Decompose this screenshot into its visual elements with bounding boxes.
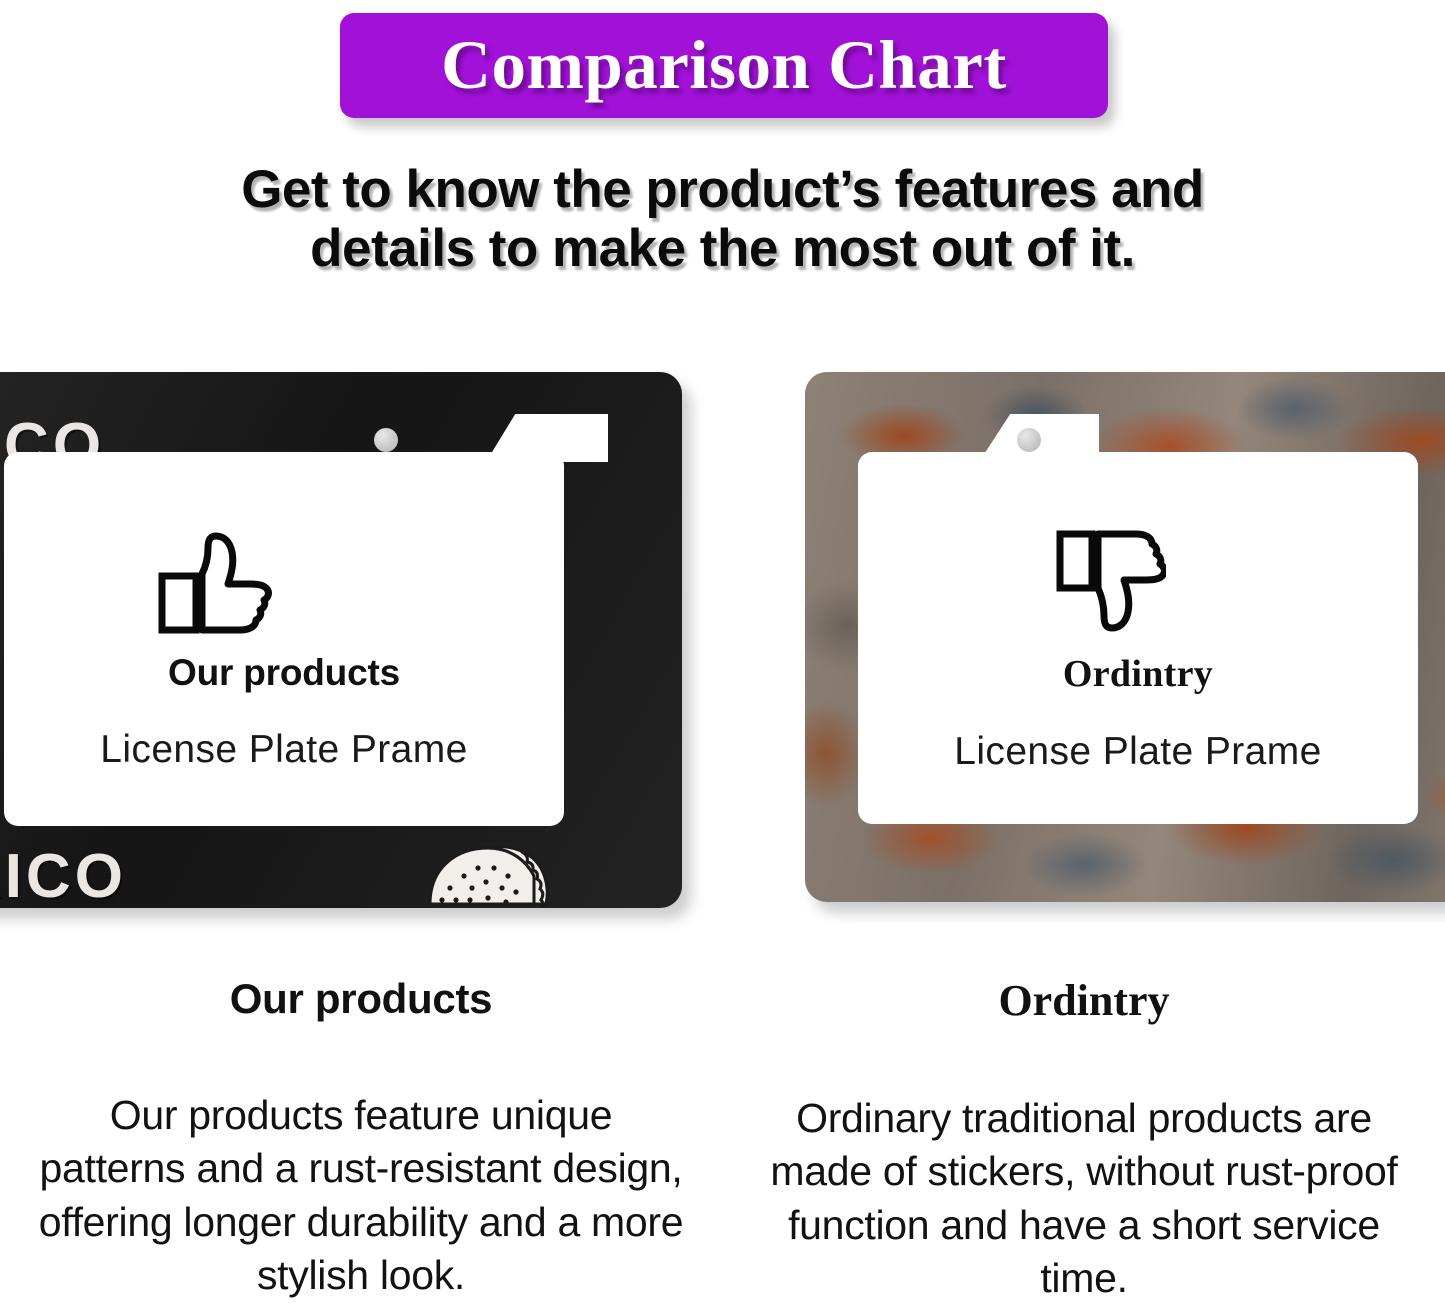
subtitle-line-2: details to make the most out of it. xyxy=(0,219,1445,278)
card-brand-right: Ordintry xyxy=(858,652,1418,696)
comparison-descriptions: Our products Our products feature unique… xyxy=(0,975,1445,1314)
card-brand-left: Our products xyxy=(4,652,564,694)
our-product-license-plate-frame: TACO EXICO xyxy=(0,372,682,908)
screw-hole xyxy=(374,428,398,452)
ordinary-license-plate-frame: Ordintry License Plate Prame xyxy=(805,372,1445,902)
description-column-ours: Our products Our products feature unique… xyxy=(0,975,722,1302)
card-subtitle-left: License Plate Prame xyxy=(4,728,564,772)
page-subtitle: Get to know the product’s features and d… xyxy=(0,160,1445,279)
page-title: Comparison Chart xyxy=(441,31,1007,100)
plate-window-right: Ordintry License Plate Prame xyxy=(858,452,1418,824)
column-title-ours: Our products xyxy=(0,975,722,1023)
comparison-chart-banner: Comparison Chart xyxy=(340,13,1108,118)
description-column-ordinary: Ordintry Ordinary traditional products a… xyxy=(723,975,1445,1305)
column-title-ordinary: Ordintry xyxy=(723,975,1445,1026)
header-banner-area: Comparison Chart xyxy=(0,0,1445,132)
card-subtitle-right: License Plate Prame xyxy=(858,730,1418,774)
product-comparison-images: TACO EXICO xyxy=(0,330,1445,940)
frame-bottom-band-label: EXICO xyxy=(0,846,127,908)
screw-hole xyxy=(1017,428,1041,452)
thumbs-down-icon xyxy=(1054,524,1166,636)
thumbs-up-icon xyxy=(154,530,278,636)
column-body-ordinary: Ordinary traditional products are made o… xyxy=(723,1092,1445,1305)
taco-icon xyxy=(426,844,558,908)
plate-window-left: Our products License Plate Prame xyxy=(4,452,564,826)
column-body-ours: Our products feature unique patterns and… xyxy=(0,1089,722,1302)
subtitle-line-1: Get to know the product’s features and xyxy=(0,160,1445,219)
